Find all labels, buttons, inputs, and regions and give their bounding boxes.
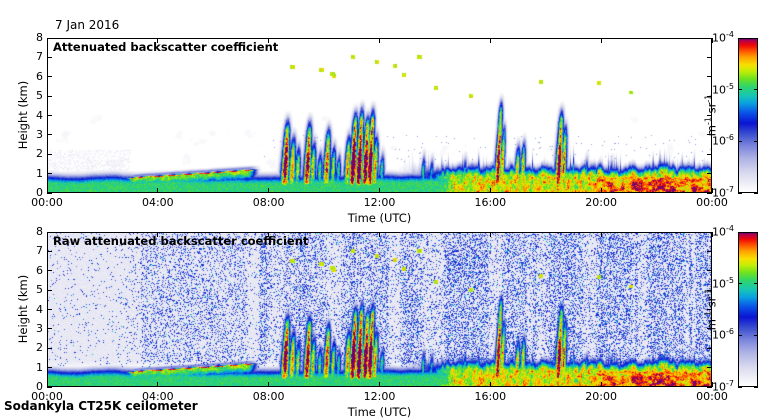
- x-tick-label: 16:00: [462, 196, 518, 209]
- x-tick: [490, 382, 491, 387]
- x-tick: [379, 188, 380, 193]
- x-tick-label: 08:00: [241, 196, 297, 209]
- y-axis-title: Height (km): [16, 259, 30, 359]
- x-tick: [268, 382, 269, 387]
- colorbar-tick: [738, 89, 742, 90]
- y-tick-label: 1: [21, 167, 43, 180]
- y-tick: [707, 173, 712, 174]
- x-tick: [379, 232, 380, 237]
- y-tick: [47, 57, 52, 58]
- y-tick: [47, 173, 52, 174]
- x-tick-label: 12:00: [352, 390, 408, 403]
- x-tick: [601, 232, 602, 237]
- y-axis-title: Height (km): [16, 65, 30, 165]
- y-tick: [707, 96, 712, 97]
- y-tick: [707, 251, 712, 252]
- colorbar-top: [738, 38, 758, 193]
- plot-frame-bottom: [47, 232, 712, 387]
- y-tick: [47, 96, 52, 97]
- y-tick-label: 7: [21, 50, 43, 63]
- y-tick: [707, 115, 712, 116]
- y-tick-label: 7: [21, 244, 43, 257]
- colorbar-tick: [738, 193, 742, 194]
- backscatter-heatmap-top: [48, 39, 711, 192]
- colorbar-tick: [754, 283, 758, 284]
- colorbar-tick: [754, 232, 758, 233]
- y-tick: [47, 193, 52, 194]
- plot-frame-top: [47, 38, 712, 193]
- y-tick: [47, 134, 52, 135]
- y-tick: [47, 38, 52, 39]
- y-tick: [707, 290, 712, 291]
- x-tick-label: 00:00: [19, 390, 75, 403]
- x-axis-title: Time (UTC): [47, 405, 712, 419]
- x-tick-label: 04:00: [130, 390, 186, 403]
- colorbar-tick: [738, 38, 742, 39]
- y-tick: [707, 348, 712, 349]
- x-tick: [47, 188, 48, 193]
- x-tick: [712, 38, 713, 43]
- x-tick: [47, 232, 48, 237]
- y-tick: [47, 309, 52, 310]
- colorbar-tick: [738, 387, 742, 388]
- y-tick: [707, 367, 712, 368]
- colorbar-bottom: [738, 232, 758, 387]
- colorbar-tick: [738, 141, 742, 142]
- x-tick-label: 08:00: [241, 390, 297, 403]
- colorbar-tick-label: 10-4: [698, 30, 734, 45]
- x-tick: [712, 382, 713, 387]
- y-tick: [707, 270, 712, 271]
- x-tick-label: 16:00: [462, 390, 518, 403]
- colorbar-tick: [754, 193, 758, 194]
- colorbar-tick: [754, 335, 758, 336]
- y-tick: [47, 76, 52, 77]
- y-tick: [47, 367, 52, 368]
- x-tick: [601, 382, 602, 387]
- y-tick: [707, 134, 712, 135]
- y-tick: [47, 387, 52, 388]
- x-tick: [490, 38, 491, 43]
- colorbar-gradient-top: [738, 38, 758, 193]
- x-tick-label: 04:00: [130, 196, 186, 209]
- ceilometer-figure: 7 Jan 2016 Sodankyla CT25K ceilometer At…: [0, 0, 780, 420]
- y-tick-label: 8: [21, 31, 43, 44]
- y-tick-label: 1: [21, 361, 43, 374]
- x-axis-title: Time (UTC): [47, 211, 712, 225]
- x-tick: [157, 188, 158, 193]
- x-tick: [601, 38, 602, 43]
- x-tick-label: 00:00: [19, 196, 75, 209]
- y-tick: [707, 309, 712, 310]
- y-tick: [47, 154, 52, 155]
- colorbar-tick: [754, 38, 758, 39]
- y-tick: [47, 270, 52, 271]
- colorbar-tick: [754, 387, 758, 388]
- backscatter-heatmap-bottom: [48, 233, 711, 386]
- colorbar-tick: [738, 335, 742, 336]
- y-tick: [707, 154, 712, 155]
- colorbar-gradient-bottom: [738, 232, 758, 387]
- y-tick: [47, 328, 52, 329]
- y-tick: [47, 348, 52, 349]
- x-tick: [490, 232, 491, 237]
- y-tick: [707, 57, 712, 58]
- y-tick: [47, 232, 52, 233]
- x-tick-label: 12:00: [352, 196, 408, 209]
- colorbar-tick-label: 10-4: [698, 224, 734, 239]
- x-tick: [47, 38, 48, 43]
- x-tick: [712, 188, 713, 193]
- x-tick: [157, 382, 158, 387]
- colorbar-tick: [738, 232, 742, 233]
- panel-raw-attenuated-backscatter: Raw attenuated backscatter coefficient: [47, 232, 712, 387]
- x-tick: [601, 188, 602, 193]
- x-tick: [490, 188, 491, 193]
- colorbar-tick: [754, 89, 758, 90]
- x-tick: [379, 38, 380, 43]
- y-tick: [707, 328, 712, 329]
- y-tick-label: 8: [21, 225, 43, 238]
- x-tick: [379, 382, 380, 387]
- colorbar-tick-label: 10-7: [698, 185, 734, 200]
- y-tick: [47, 115, 52, 116]
- page-title: 7 Jan 2016: [55, 18, 119, 32]
- panel-attenuated-backscatter: Attenuated backscatter coefficient: [47, 38, 712, 193]
- x-tick-label: 20:00: [573, 196, 629, 209]
- y-tick: [47, 251, 52, 252]
- y-tick: [707, 76, 712, 77]
- x-tick-label: 20:00: [573, 390, 629, 403]
- y-tick: [47, 290, 52, 291]
- colorbar-tick-label: 10-7: [698, 379, 734, 394]
- x-tick: [47, 382, 48, 387]
- x-tick: [268, 188, 269, 193]
- colorbar-tick: [738, 283, 742, 284]
- panel-label-bottom: Raw attenuated backscatter coefficient: [53, 234, 308, 248]
- panel-label-top: Attenuated backscatter coefficient: [53, 40, 278, 54]
- x-tick: [712, 232, 713, 237]
- colorbar-tick: [754, 141, 758, 142]
